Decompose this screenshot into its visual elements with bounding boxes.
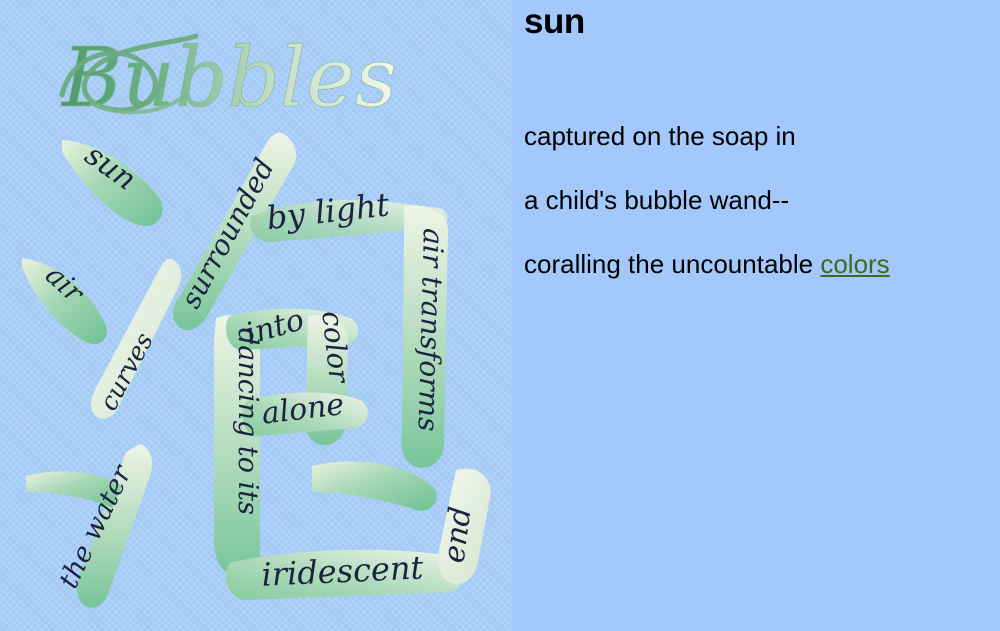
poem-line-3-text: coralling the uncountable <box>524 249 820 279</box>
ribbon-text-dancing-to-its: dancing to its <box>232 328 263 515</box>
ribbon-text-iridescent: iridescent <box>261 548 425 593</box>
ribbon-text-end: end <box>437 505 479 565</box>
poem-body: captured on the soap in a child's bubble… <box>524 88 890 312</box>
artwork-title: Bubbles <box>60 31 397 126</box>
colors-link[interactable]: colors <box>820 249 889 279</box>
bubbles-artwork: Bubbles <box>0 0 512 631</box>
page-title: sun <box>524 2 585 42</box>
poem-panel: sun captured on the soap in a child's bu… <box>512 0 1000 631</box>
poem-line-3: coralling the uncountable colors <box>524 248 890 280</box>
ribbon-text-air-transforms: air transforms <box>412 228 450 432</box>
poem-line-2: a child's bubble wand-- <box>524 184 890 216</box>
artwork-canvas: Bubbles <box>0 0 512 631</box>
poem-line-1: captured on the soap in <box>524 120 890 152</box>
